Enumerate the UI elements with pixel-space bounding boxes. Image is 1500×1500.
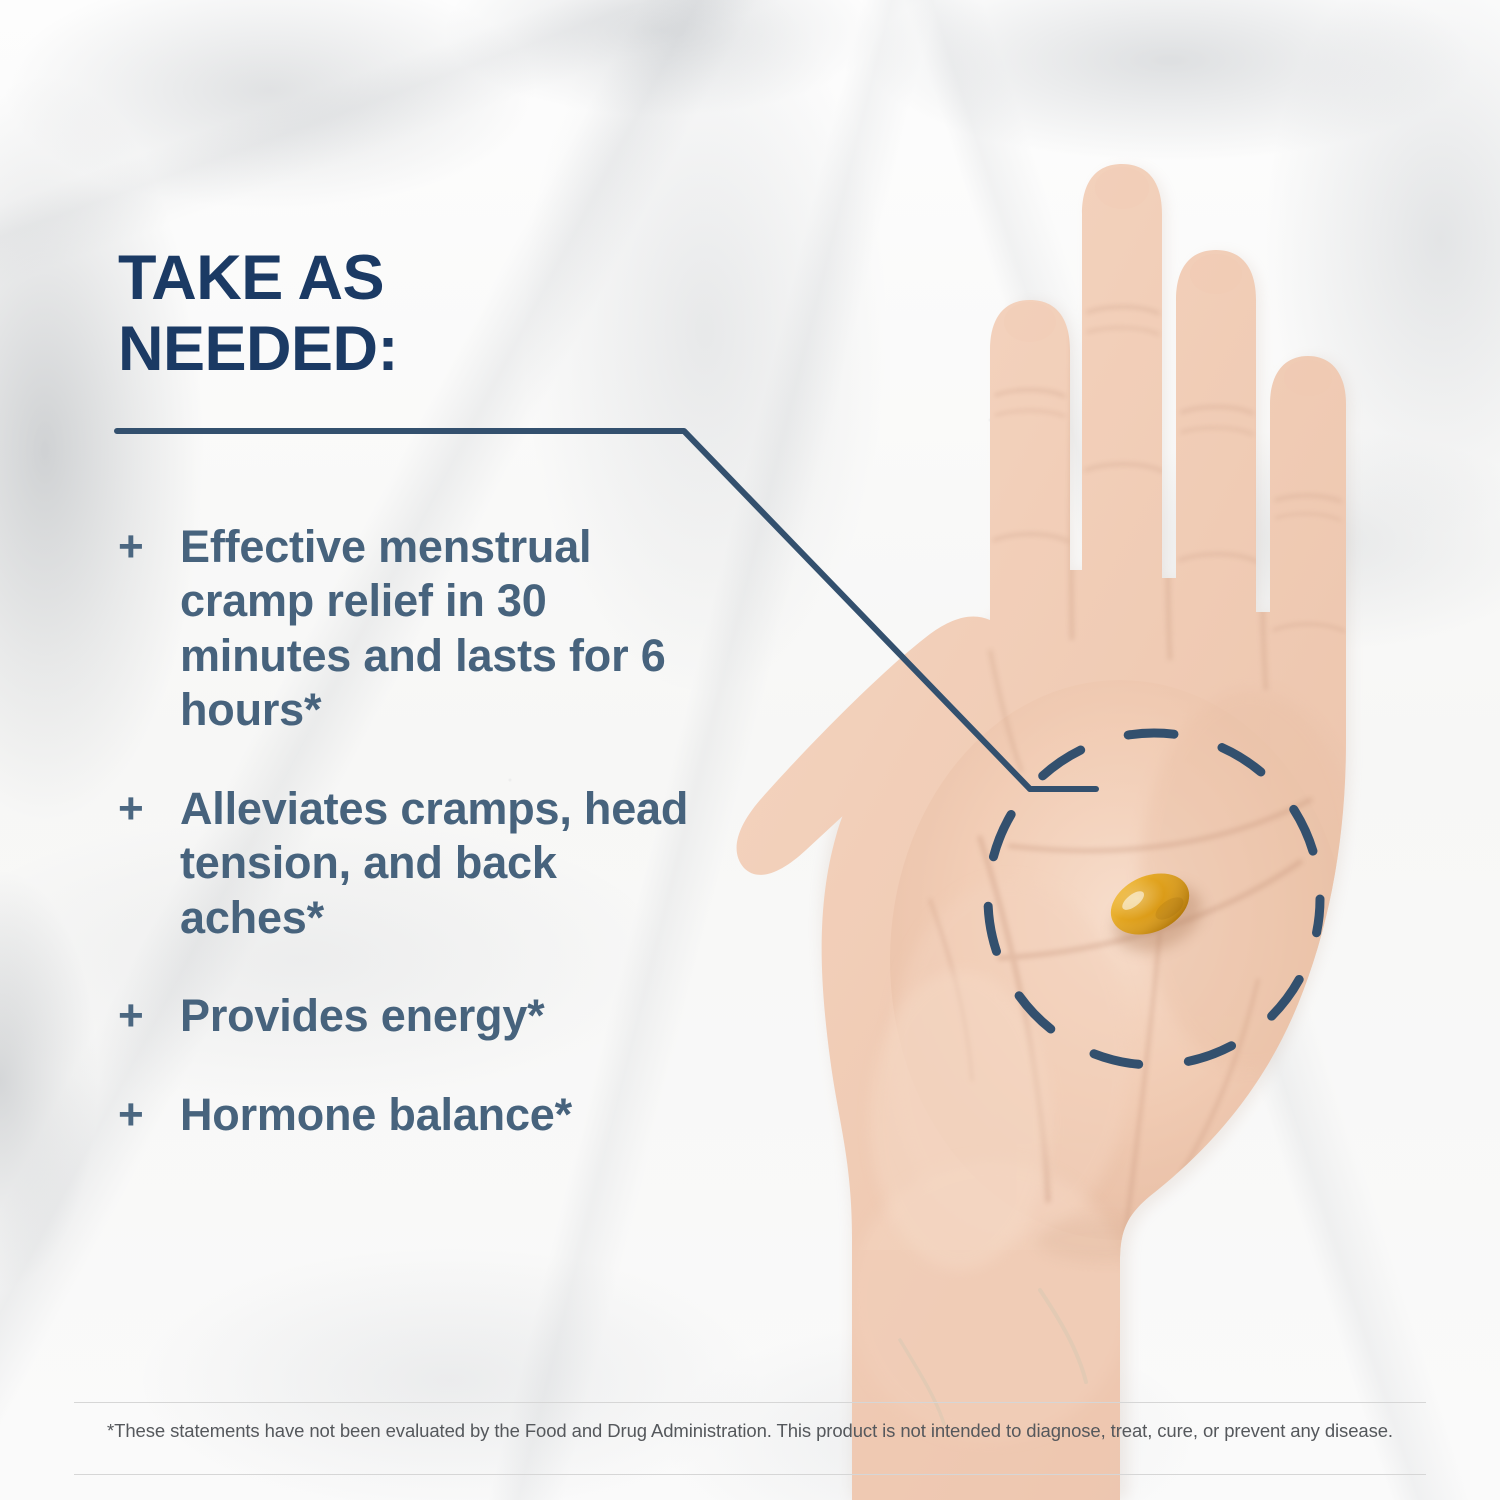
plus-icon: + xyxy=(118,1088,180,1141)
benefit-text: Effective menstrual cramp relief in 30 m… xyxy=(180,520,690,738)
list-item: + Hormone balance* xyxy=(118,1088,718,1142)
footer-divider-bottom xyxy=(74,1474,1426,1475)
plus-icon: + xyxy=(118,782,180,835)
benefits-list: + Effective menstrual cramp relief in 30… xyxy=(118,520,718,1142)
list-item: + Provides energy* xyxy=(118,989,718,1043)
benefit-text: Hormone balance* xyxy=(180,1088,572,1142)
plus-icon: + xyxy=(118,520,180,573)
benefit-text: Alleviates cramps, head tension, and bac… xyxy=(180,782,690,945)
footer-divider-top xyxy=(74,1402,1426,1403)
list-item: + Effective menstrual cramp relief in 30… xyxy=(118,520,718,738)
page-title: TAKE AS NEEDED: xyxy=(118,243,678,384)
plus-icon: + xyxy=(118,989,180,1042)
fda-disclaimer: *These statements have not been evaluate… xyxy=(74,1418,1426,1444)
product-benefits-card: TAKE AS NEEDED: + Effective menstrual cr… xyxy=(0,0,1500,1500)
list-item: + Alleviates cramps, head tension, and b… xyxy=(118,782,718,945)
benefit-text: Provides energy* xyxy=(180,989,544,1043)
